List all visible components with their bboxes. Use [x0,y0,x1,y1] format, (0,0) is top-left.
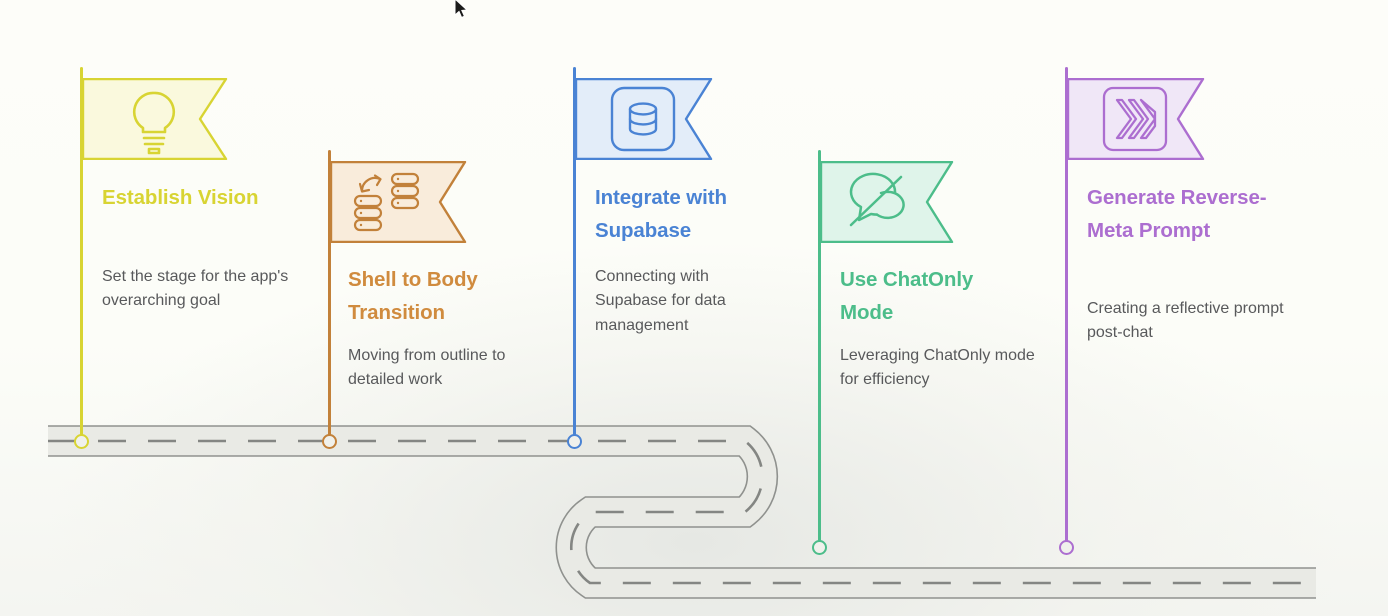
road-marker-shell-to-body-transition[interactable] [322,434,337,449]
milestone-description: Set the stage for the app's overarching … [102,265,297,314]
milestone-description: Connecting with Supabase for data manage… [595,265,785,338]
flag-banner [1067,78,1205,160]
roadmap-diagram: Establish Vision Set the stage for the a… [0,0,1388,616]
flag-banner [330,161,467,243]
road-marker-generate-reverse-meta-prompt[interactable] [1059,540,1074,555]
milestone-title: Generate Reverse-Meta Prompt [1087,182,1282,247]
road-marker-use-chatonly-mode[interactable] [812,540,827,555]
milestone-title: Shell to Body Transition [348,264,543,329]
milestone-description: Moving from outline to detailed work [348,344,548,393]
milestone-title: Integrate with Supabase [595,182,785,247]
flag-banner [820,161,954,243]
flag-banner [575,78,713,160]
milestone-title: Establish Vision [102,182,287,215]
road-marker-integrate-with-supabase[interactable] [567,434,582,449]
milestone-title: Use ChatOnly Mode [840,264,1030,329]
flag-banner [82,78,228,160]
milestone-description: Creating a reflective prompt post-chat [1087,297,1287,346]
road-marker-establish-vision[interactable] [74,434,89,449]
milestone-description: Leveraging ChatOnly mode for efficiency [840,344,1040,393]
